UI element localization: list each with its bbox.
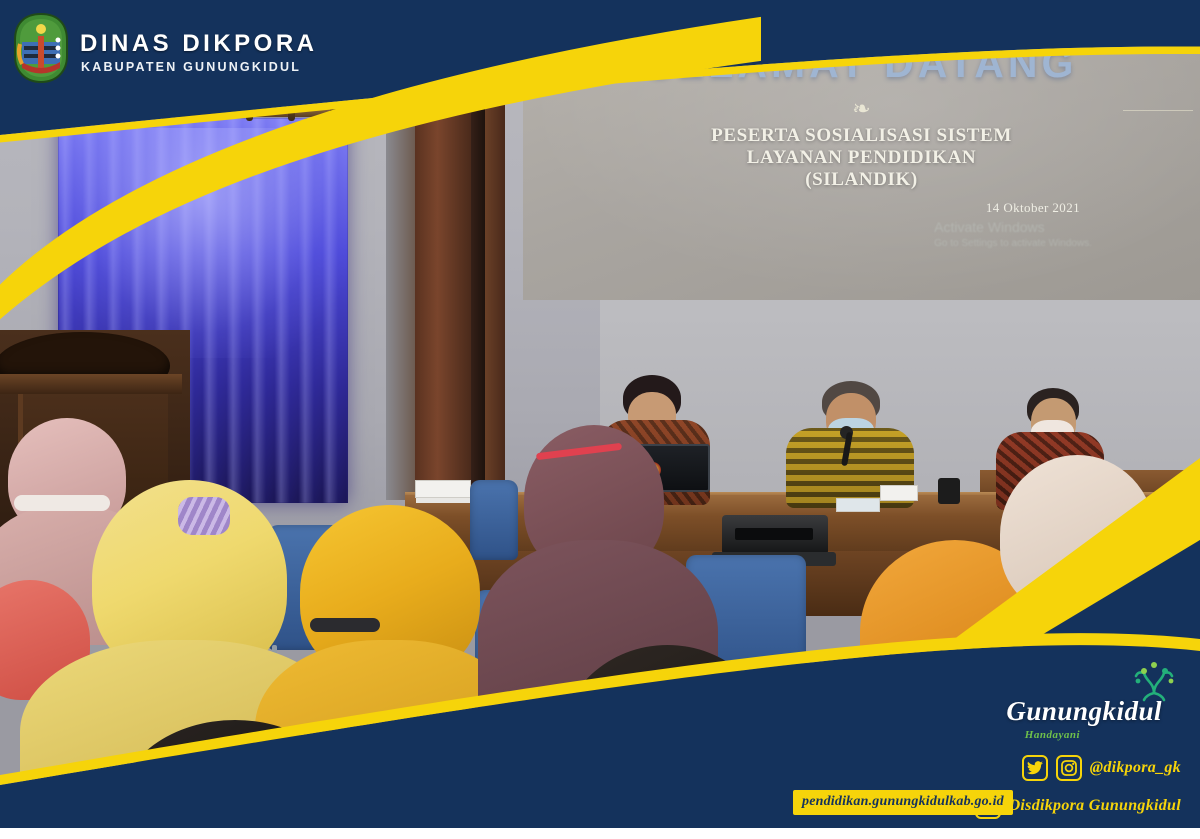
nameplate	[415, 480, 471, 498]
wall-panel-grey	[386, 0, 416, 500]
slide-title: SELAMAT DATANG	[523, 40, 1200, 87]
slide-subtitle-line-3: (SILANDIK)	[523, 169, 1200, 191]
bottom-white-margin	[0, 828, 1200, 839]
curtain-ring	[288, 104, 295, 121]
curtain-ring	[330, 104, 337, 121]
slide-ornament-icon: ❧	[523, 96, 1200, 122]
slide-date: 14 Oktober 2021	[986, 200, 1080, 216]
nameplate	[880, 485, 918, 501]
chair-leg	[800, 680, 805, 750]
audio-speaker	[938, 478, 960, 504]
face-mask-strap	[14, 495, 110, 511]
curtain-ring	[162, 104, 169, 121]
podium-top	[0, 374, 182, 394]
wood-panel-1	[415, 0, 471, 500]
curtain-ring	[204, 104, 211, 121]
slide-subtitle-line-1: PESERTA SOSIALISASI SISTEM	[523, 125, 1200, 147]
chair-back	[470, 480, 518, 560]
watermark-title: Activate Windows	[934, 218, 1092, 237]
curtain-ring	[246, 104, 253, 121]
hijab-band	[310, 618, 380, 632]
watermark-subtitle: Go to Settings to activate Windows.	[934, 237, 1092, 251]
slide-subtitle: PESERTA SOSIALISASI SISTEM LAYANAN PENDI…	[523, 125, 1200, 191]
wood-panel-2	[485, 0, 505, 495]
windows-activation-watermark: Activate Windows Go to Settings to activ…	[934, 218, 1092, 250]
curtain-backlight	[58, 128, 348, 358]
event-photograph: SELAMAT DATANG ❧ PESERTA SOSIALISASI SIS…	[0, 0, 1200, 828]
wood-panel-seam	[471, 0, 485, 500]
poster-canvas: SELAMAT DATANG ❧ PESERTA SOSIALISASI SIS…	[0, 0, 1200, 839]
slide-subtitle-line-2: LAYANAN PENDIDIKAN	[523, 147, 1200, 169]
projector-lens	[735, 528, 813, 540]
hijab-brooch-icon	[178, 497, 230, 535]
projection-screen: SELAMAT DATANG ❧ PESERTA SOSIALISASI SIS…	[523, 0, 1200, 300]
curtain-ring	[78, 104, 85, 121]
chair-back	[1154, 490, 1200, 585]
nameplate	[836, 498, 880, 512]
curtain-ring	[120, 104, 127, 121]
shoulder-cream	[965, 580, 1200, 810]
